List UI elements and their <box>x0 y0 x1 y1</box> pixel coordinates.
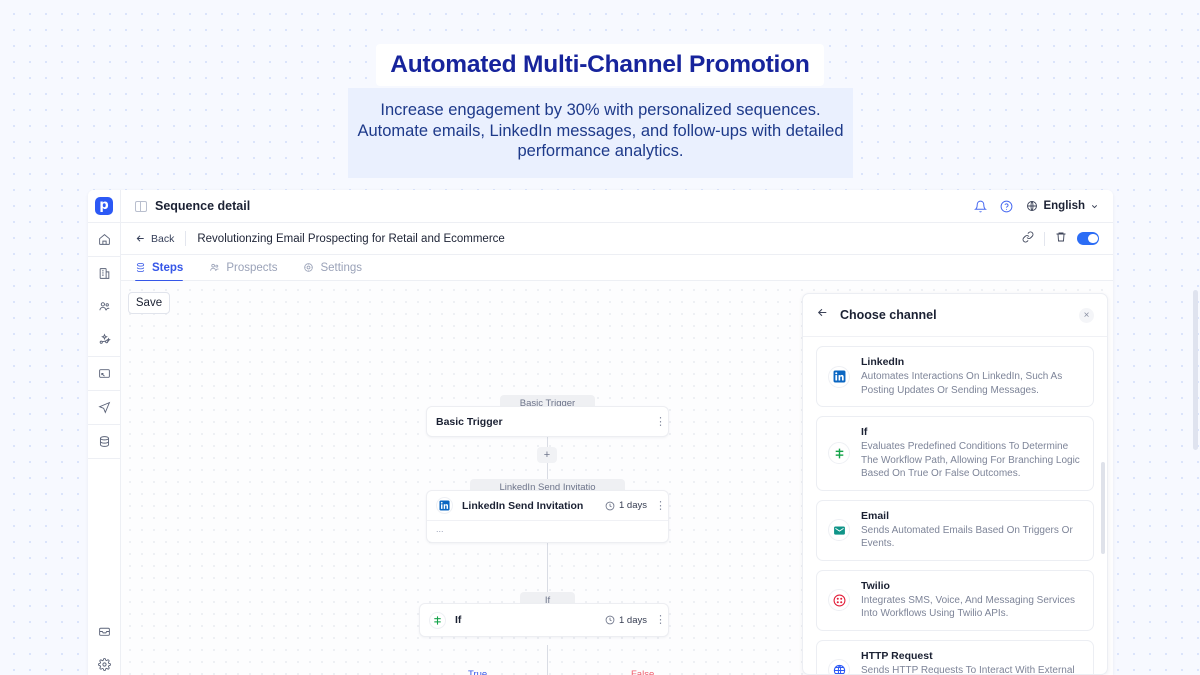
globe-icon <box>828 659 850 675</box>
gear-icon <box>303 262 314 273</box>
node-menu-icon[interactable]: ⋮ <box>655 419 659 425</box>
tab-settings-label: Settings <box>320 262 362 274</box>
database-icon <box>98 435 111 448</box>
tab-steps[interactable]: Steps <box>135 255 183 281</box>
choose-channel-panel: Choose channel × LinkedIn Automates Inte… <box>802 293 1108 675</box>
chevron-down-icon <box>1090 202 1099 211</box>
channel-item-twilio[interactable]: Twilio Integrates SMS, Voice, And Messag… <box>816 570 1094 631</box>
language-selector[interactable]: English <box>1026 200 1099 212</box>
node-menu-icon[interactable]: ⋮ <box>655 617 659 623</box>
panel-back-icon[interactable] <box>816 306 829 324</box>
sidebar-item-people[interactable] <box>88 290 121 323</box>
node-delay: 1 days <box>605 615 647 626</box>
page-root: Automated Multi-Channel Promotion Increa… <box>0 0 1200 675</box>
channel-list: LinkedIn Automates Interactions On Linke… <box>803 337 1107 675</box>
language-label: English <box>1043 200 1085 212</box>
panel-toggle-icon[interactable] <box>135 201 147 212</box>
twilio-icon <box>828 589 850 611</box>
globe-icon <box>1026 200 1038 212</box>
channel-description: Sends HTTP Requests To Interact With Ext… <box>861 664 1082 675</box>
inbox-icon <box>98 625 111 638</box>
channel-name: LinkedIn <box>861 356 1082 368</box>
channel-item-linkedin[interactable]: LinkedIn Automates Interactions On Linke… <box>816 346 1094 407</box>
steps-icon <box>135 262 146 273</box>
choose-channel-title: Choose channel <box>840 308 937 322</box>
node-basic-trigger[interactable]: Basic Trigger ⋮ <box>426 406 669 437</box>
page-scrollbar-thumb[interactable] <box>1193 290 1198 450</box>
breadcrumb-bar: Back Revolutionzing Email Prospecting fo… <box>121 223 1113 255</box>
sidebar-item-screen[interactable] <box>88 357 121 390</box>
node-menu-icon[interactable]: ⋮ <box>655 503 659 509</box>
node-delay-label: 1 days <box>619 500 647 511</box>
sidebar-item-home[interactable] <box>88 223 121 256</box>
node-linkedin-send-invitation[interactable]: LinkedIn Send Invitation 1 days ⋮ ... <box>426 490 669 543</box>
tab-steps-label: Steps <box>152 262 183 274</box>
connector-linkedin-to-if <box>547 541 548 592</box>
channel-description: Sends Automated Emails Based On Triggers… <box>861 524 1082 551</box>
tab-settings[interactable]: Settings <box>303 255 362 281</box>
connector-if-down <box>547 645 548 675</box>
node-title: LinkedIn Send Invitation <box>462 500 583 512</box>
breadcrumb-divider <box>185 231 186 246</box>
branch-false-label: False <box>626 669 659 675</box>
linkedin-icon <box>828 366 850 388</box>
sparkle-nodes-icon <box>98 333 111 346</box>
sidebar-item-automations[interactable] <box>88 323 121 356</box>
choose-channel-header: Choose channel × <box>803 294 1107 337</box>
delete-icon[interactable] <box>1055 230 1067 248</box>
home-icon <box>98 233 111 246</box>
channel-description: Evaluates Predefined Conditions To Deter… <box>861 440 1082 481</box>
sidebar-item-campaigns[interactable] <box>88 391 121 424</box>
clock-icon <box>605 501 615 511</box>
branch-true-label: True <box>463 669 492 675</box>
gear-icon <box>98 658 111 671</box>
toolbar-divider <box>1044 232 1045 246</box>
channel-name: If <box>861 426 1082 438</box>
channel-description: Automates Interactions On LinkedIn, Such… <box>861 370 1082 397</box>
save-button[interactable]: Save <box>128 292 170 314</box>
app-topbar: p Sequence detail English <box>88 190 1113 223</box>
back-button[interactable]: Back <box>135 233 174 245</box>
help-icon[interactable] <box>1000 200 1013 213</box>
add-step-button[interactable]: + <box>537 447 557 463</box>
arrow-left-icon <box>135 233 146 244</box>
channel-name: HTTP Request <box>861 650 1082 662</box>
topbar-title: Sequence detail <box>155 199 250 213</box>
back-label: Back <box>151 233 174 245</box>
node-if[interactable]: If 1 days ⋮ <box>419 603 669 637</box>
channel-item-http-request[interactable]: HTTP Request Sends HTTP Requests To Inte… <box>816 640 1094 675</box>
tab-bar: Steps Prospects Settings <box>121 255 1113 281</box>
channel-item-if[interactable]: If Evaluates Predefined Conditions To De… <box>816 416 1094 491</box>
linkedin-icon <box>436 497 453 514</box>
page-title: Automated Multi-Channel Promotion <box>390 51 809 79</box>
promo-title-card: Automated Multi-Channel Promotion <box>376 44 824 86</box>
bell-icon[interactable] <box>974 200 987 213</box>
brand-logo[interactable]: p <box>95 197 113 215</box>
panel-scrollbar-thumb[interactable] <box>1101 462 1105 554</box>
link-icon[interactable] <box>1022 230 1034 248</box>
people-icon <box>209 262 220 273</box>
sequence-active-toggle[interactable] <box>1077 232 1099 245</box>
promo-subtitle: Increase engagement by 30% with personal… <box>348 100 853 162</box>
close-icon[interactable]: × <box>1079 308 1094 323</box>
if-icon <box>429 612 446 629</box>
people-icon <box>98 300 111 313</box>
building-icon <box>98 267 111 280</box>
node-delay-label: 1 days <box>619 615 647 626</box>
tab-prospects-label: Prospects <box>226 262 277 274</box>
node-title: If <box>455 614 461 626</box>
node-title: Basic Trigger <box>436 416 503 428</box>
channel-name: Twilio <box>861 580 1082 592</box>
sidebar-item-data[interactable] <box>88 425 121 458</box>
tab-prospects[interactable]: Prospects <box>209 255 277 281</box>
clock-icon <box>605 615 615 625</box>
channel-item-email[interactable]: Email Sends Automated Emails Based On Tr… <box>816 500 1094 561</box>
if-icon <box>828 442 850 464</box>
sidebar-item-company[interactable] <box>88 257 121 290</box>
app-logo-cell: p <box>88 190 121 223</box>
sidebar-item-settings[interactable] <box>88 648 121 675</box>
node-delay: 1 days <box>605 500 647 511</box>
email-icon <box>828 519 850 541</box>
send-icon <box>98 401 111 414</box>
channel-name: Email <box>861 510 1082 522</box>
sequence-name: Revolutionzing Email Prospecting for Ret… <box>197 233 504 245</box>
sidebar-item-inbox[interactable] <box>88 615 121 648</box>
left-sidebar <box>88 223 121 675</box>
node-body: ... <box>427 520 668 542</box>
screen-share-icon <box>98 367 111 380</box>
channel-description: Integrates SMS, Voice, And Messaging Ser… <box>861 594 1082 621</box>
